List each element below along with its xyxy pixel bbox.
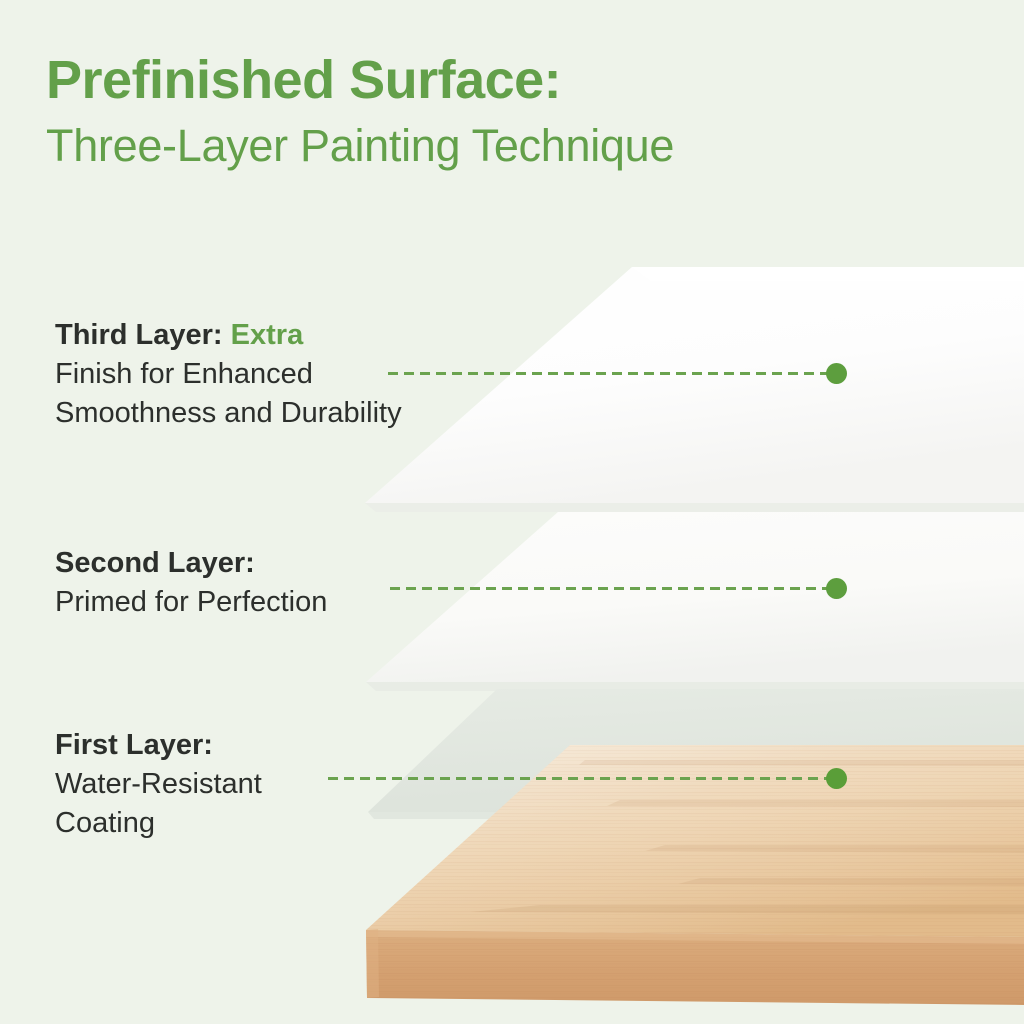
- layer-label-third-head: Third Layer: Extra: [55, 316, 402, 355]
- layer-label-first: First Layer: Water-Resistant Coating: [55, 726, 262, 843]
- layer-label-third-head-text: Third Layer:: [55, 319, 223, 351]
- dashed-leader-line-icon: [390, 587, 828, 590]
- layer-label-third-line-2: Smoothness and Durability: [55, 394, 402, 433]
- connector-third-layer: [388, 363, 847, 383]
- layer-label-third: Third Layer: Extra Finish for Enhanced S…: [55, 316, 402, 433]
- connector-dot-icon: [826, 578, 847, 599]
- layer-label-first-line-2: Coating: [55, 804, 262, 843]
- primer-panel: [366, 512, 1024, 694]
- title-subtitle: Three-Layer Painting Technique: [46, 121, 966, 171]
- connector-first-layer: [328, 768, 847, 788]
- connector-second-layer: [390, 578, 847, 598]
- page-title: Prefinished Surface: Three-Layer Paintin…: [46, 52, 966, 172]
- layer-label-second-line-1: Primed for Perfection: [55, 583, 327, 622]
- connector-dot-icon: [826, 363, 847, 384]
- connector-dot-icon: [826, 768, 847, 789]
- dashed-leader-line-icon: [388, 372, 828, 375]
- infographic-canvas: Prefinished Surface: Three-Layer Paintin…: [0, 0, 1024, 1024]
- layer-label-first-line-1: Water-Resistant: [55, 765, 262, 804]
- layer-label-third-line-1: Finish for Enhanced: [55, 355, 402, 394]
- layer-label-second-head: Second Layer:: [55, 544, 327, 583]
- title-main: Prefinished Surface:: [46, 52, 966, 109]
- layer-label-second: Second Layer: Primed for Perfection: [55, 544, 327, 622]
- layer-label-third-head-accent: Extra: [231, 319, 304, 351]
- extra-finish-panel: [365, 267, 1024, 515]
- dashed-leader-line-icon: [328, 777, 828, 780]
- layer-label-first-head: First Layer:: [55, 726, 262, 765]
